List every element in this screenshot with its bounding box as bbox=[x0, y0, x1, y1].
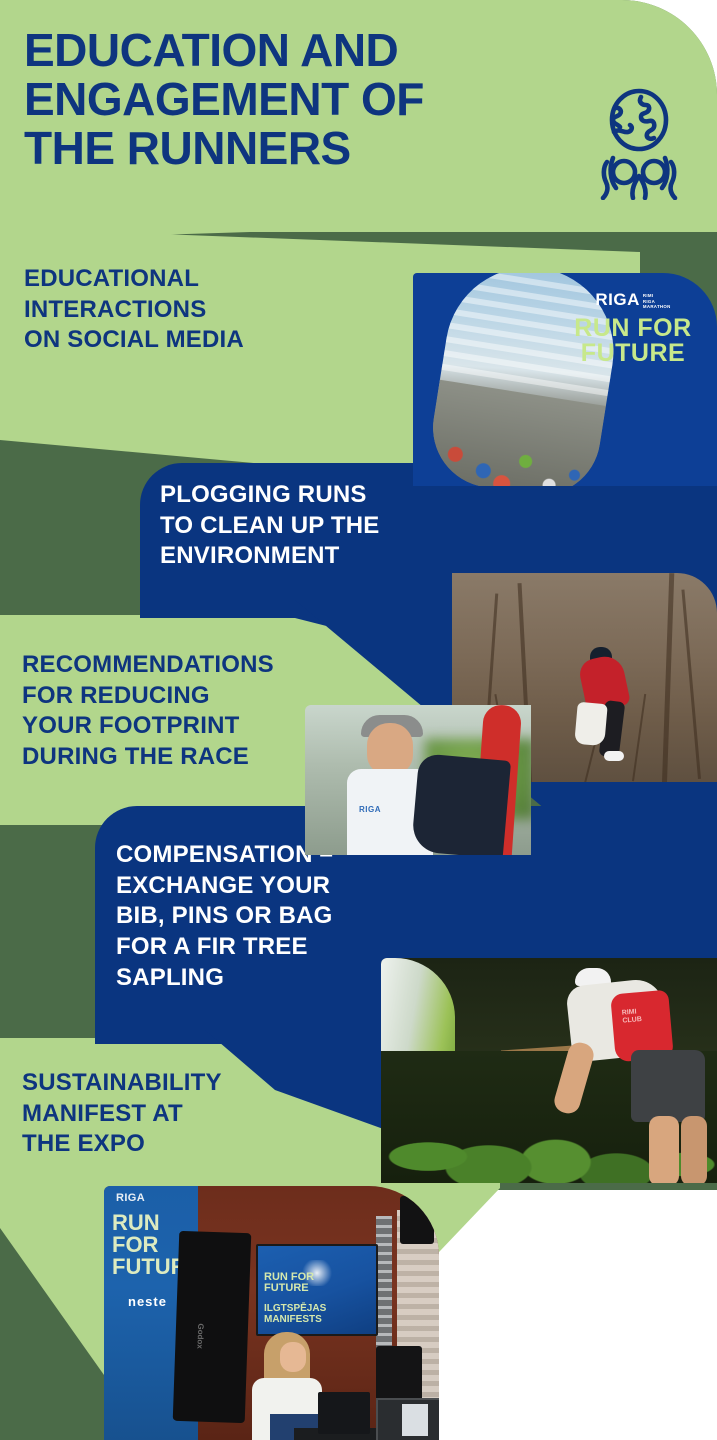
screen-headline: RUN FOR FUTURE bbox=[264, 1272, 314, 1294]
background-white-mask bbox=[437, 1190, 717, 1440]
educational-line-1: EDUCATIONAL bbox=[24, 264, 354, 295]
presenter-face bbox=[280, 1342, 306, 1372]
recommendations-line-1: RECOMMENDATIONS bbox=[22, 650, 352, 681]
runner-arm bbox=[552, 1040, 597, 1116]
globe-with-people-icon bbox=[585, 88, 693, 200]
sustainability-line-1: SUSTAINABILITY bbox=[22, 1068, 322, 1099]
run-for-future-promo-graphic: RIGARIMIRIGAMARATHON RUN FOR FUTURE bbox=[413, 273, 717, 486]
sustainability-line-3: THE EXPO bbox=[22, 1129, 322, 1160]
page-title-line-1: EDUCATION AND bbox=[24, 24, 398, 76]
sustainability-line-2: MANIFEST AT bbox=[22, 1099, 322, 1130]
educational-line-2: INTERACTIONS bbox=[24, 295, 354, 326]
compensation-line-5: SAPLING bbox=[116, 963, 416, 994]
compensation-line-2: EXCHANGE YOUR bbox=[116, 871, 416, 902]
educational-line-3: ON SOCIAL MEDIA bbox=[24, 325, 354, 356]
expo-presentation-photo: RIGA RUN FOR FUTURE neste RUN FOR FUTURE… bbox=[104, 1186, 439, 1440]
runner-dark-jacket bbox=[411, 753, 511, 855]
screen-manifest-text: ILGTSPĒJAS MANIFESTS bbox=[264, 1304, 326, 1325]
recommendations-line-3: YOUR FOOTPRINT bbox=[22, 711, 352, 742]
stage-speaker-bottom bbox=[376, 1346, 422, 1404]
photo-softbox: Godox bbox=[173, 1231, 252, 1423]
run-for-future-headline: RUN FOR FUTURE bbox=[557, 316, 709, 365]
screen-manifest-line-1: ILGTSPĒJAS bbox=[264, 1304, 326, 1315]
plogging-runner bbox=[560, 647, 640, 769]
riga-wordmark: RIGA bbox=[595, 291, 640, 308]
screen-manifest-line-2: MANIFESTS bbox=[264, 1315, 326, 1326]
runner-leg-right bbox=[681, 1116, 707, 1183]
fir-tree-sapling-exchange-photo: RIMI CLUB bbox=[381, 958, 717, 1183]
runner-head bbox=[367, 723, 413, 775]
page-header: EDUCATION AND ENGAGEMENT OF THE RUNNERS bbox=[24, 26, 564, 174]
banner-sponsor-logo: neste bbox=[128, 1294, 167, 1309]
presentation-screen: RUN FOR FUTURE ILGTSPĒJAS MANIFESTS bbox=[256, 1244, 378, 1336]
bag-text-line-2: CLUB bbox=[622, 1016, 642, 1025]
red-bag-text: RIMI CLUB bbox=[622, 1008, 643, 1025]
plogging-line-3: ENVIRONMENT bbox=[160, 541, 460, 572]
section-text-compensation: COMPENSATION – EXCHANGE YOUR BIB, PINS O… bbox=[116, 840, 416, 994]
page-title-line-2: ENGAGEMENT OF bbox=[24, 73, 424, 125]
compensation-line-3: BIB, PINS OR BAG bbox=[116, 901, 416, 932]
recommendations-line-4: DURING THE RACE bbox=[22, 742, 352, 773]
plogging-line-2: TO CLEAN UP THE bbox=[160, 511, 460, 542]
promo-inner: RIGARIMIRIGAMARATHON RUN FOR FUTURE bbox=[413, 273, 717, 486]
infographic-page: EDUCATION AND ENGAGEMENT OF THE RUNNERS … bbox=[0, 0, 717, 1440]
runner-showing-jacket-photo: RIGA bbox=[305, 705, 531, 855]
section-text-educational-interactions: EDUCATIONAL INTERACTIONS ON SOCIAL MEDIA bbox=[24, 264, 354, 356]
recommendations-line-2: FOR REDUCING bbox=[22, 681, 352, 712]
runner-shoe bbox=[604, 751, 624, 761]
runners-crowd bbox=[424, 380, 605, 486]
runner-leg-left bbox=[649, 1116, 679, 1183]
promo-logo-block: RIGARIMIRIGAMARATHON RUN FOR FUTURE bbox=[557, 291, 709, 365]
trash-bag bbox=[574, 702, 608, 746]
banner-riga-wordmark: RIGA bbox=[116, 1192, 145, 1204]
bib-logo-text: RIGA bbox=[359, 805, 381, 814]
compensation-line-4: FOR A FIR TREE bbox=[116, 932, 416, 963]
section-text-plogging-runs: PLOGGING RUNS TO CLEAN UP THE ENVIRONMEN… bbox=[160, 480, 460, 572]
section-text-sustainability: SUSTAINABILITY MANIFEST AT THE EXPO bbox=[22, 1068, 322, 1160]
runner-shorts bbox=[631, 1050, 705, 1122]
stage-monitor bbox=[318, 1392, 370, 1434]
page-title: EDUCATION AND ENGAGEMENT OF THE RUNNERS bbox=[24, 26, 564, 174]
laptop-screen bbox=[402, 1404, 428, 1436]
riga-marathon-subtext: RIMIRIGAMARATHON bbox=[643, 293, 671, 310]
page-title-line-3: THE RUNNERS bbox=[24, 122, 351, 174]
screen-headline-line-2: FUTURE bbox=[264, 1283, 314, 1294]
section-text-recommendations: RECOMMENDATIONS FOR REDUCING YOUR FOOTPR… bbox=[22, 650, 352, 773]
rff-line-1: RUN FOR bbox=[557, 316, 709, 341]
softbox-brand-label: Godox bbox=[195, 1323, 205, 1349]
stage-speaker-top bbox=[400, 1196, 434, 1244]
laptop bbox=[376, 1398, 439, 1440]
rff-line-2: FUTURE bbox=[557, 341, 709, 366]
bending-runner: RIMI CLUB bbox=[553, 966, 713, 1183]
